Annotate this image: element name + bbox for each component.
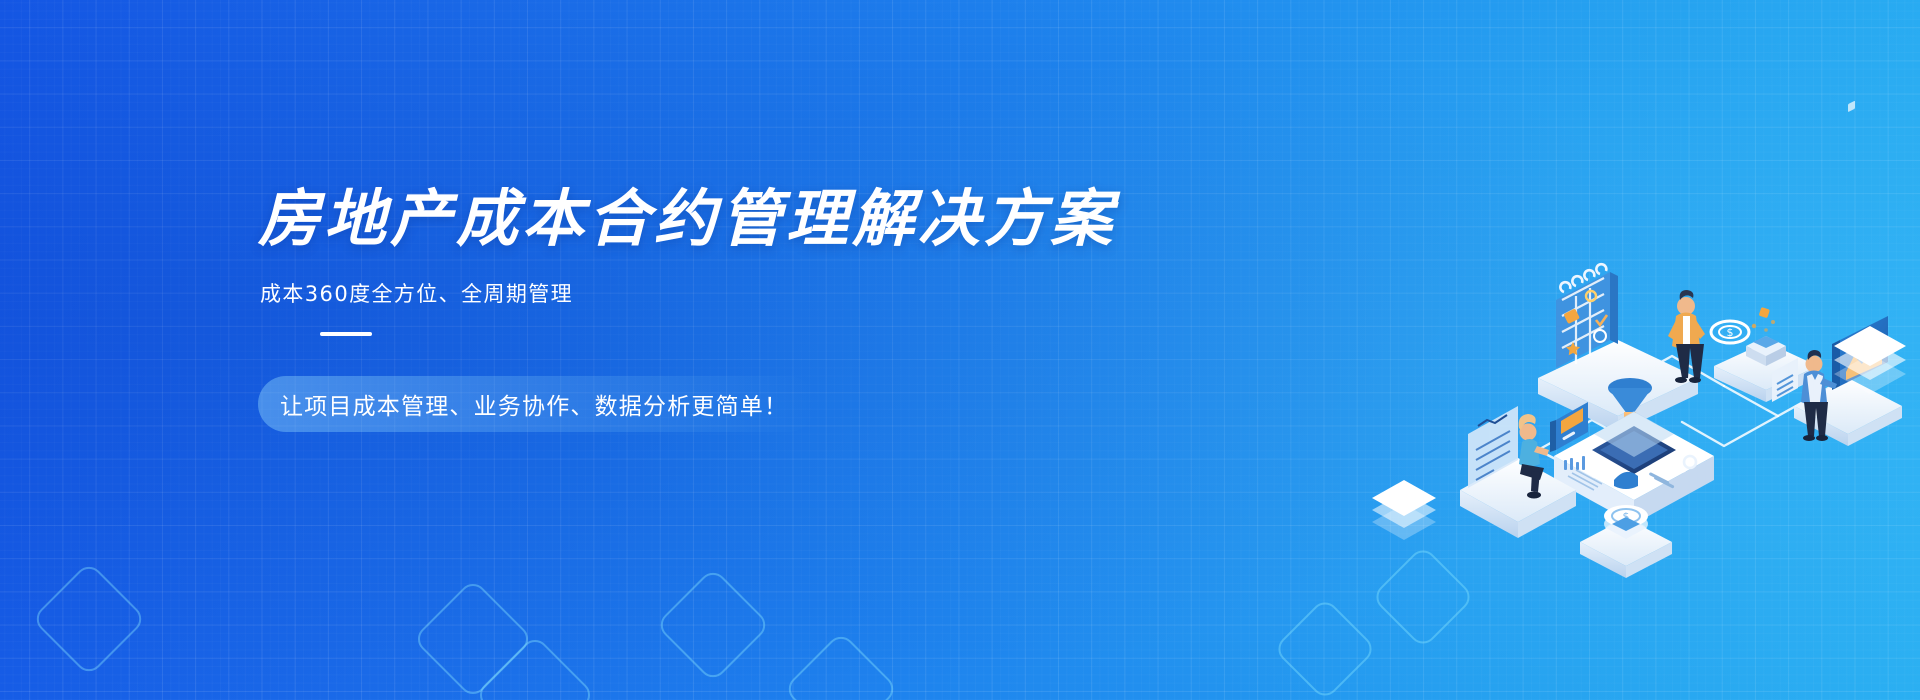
floating-sheets <box>1372 480 1436 540</box>
cta-label: 让项目成本管理、业务协作、数据分析更简单！ <box>280 387 788 421</box>
chart-screen-group <box>1772 101 1902 446</box>
calendar-platform-group: $ <box>1538 264 1749 436</box>
page-subtitle: 成本360度全方位、全周期管理 <box>260 278 1038 308</box>
floating-particles <box>1752 307 1775 332</box>
hero-copy: 房地产成本合约管理解决方案 成本360度全方位、全周期管理 让项目成本管理、业务… <box>258 186 1038 336</box>
title-divider <box>320 332 372 336</box>
svg-text:$: $ <box>1727 326 1734 339</box>
page-title: 房地产成本合约管理解决方案 <box>258 186 1038 252</box>
mini-pedestal <box>1580 517 1672 578</box>
cta-pill[interactable]: 让项目成本管理、业务协作、数据分析更简单！ <box>258 376 816 432</box>
hero-illustration: $ <box>1342 150 1902 570</box>
coin-dollar-icon: $ <box>1711 321 1749 343</box>
hero-banner: 房地产成本合约管理解决方案 成本360度全方位、全周期管理 让项目成本管理、业务… <box>0 0 1920 700</box>
